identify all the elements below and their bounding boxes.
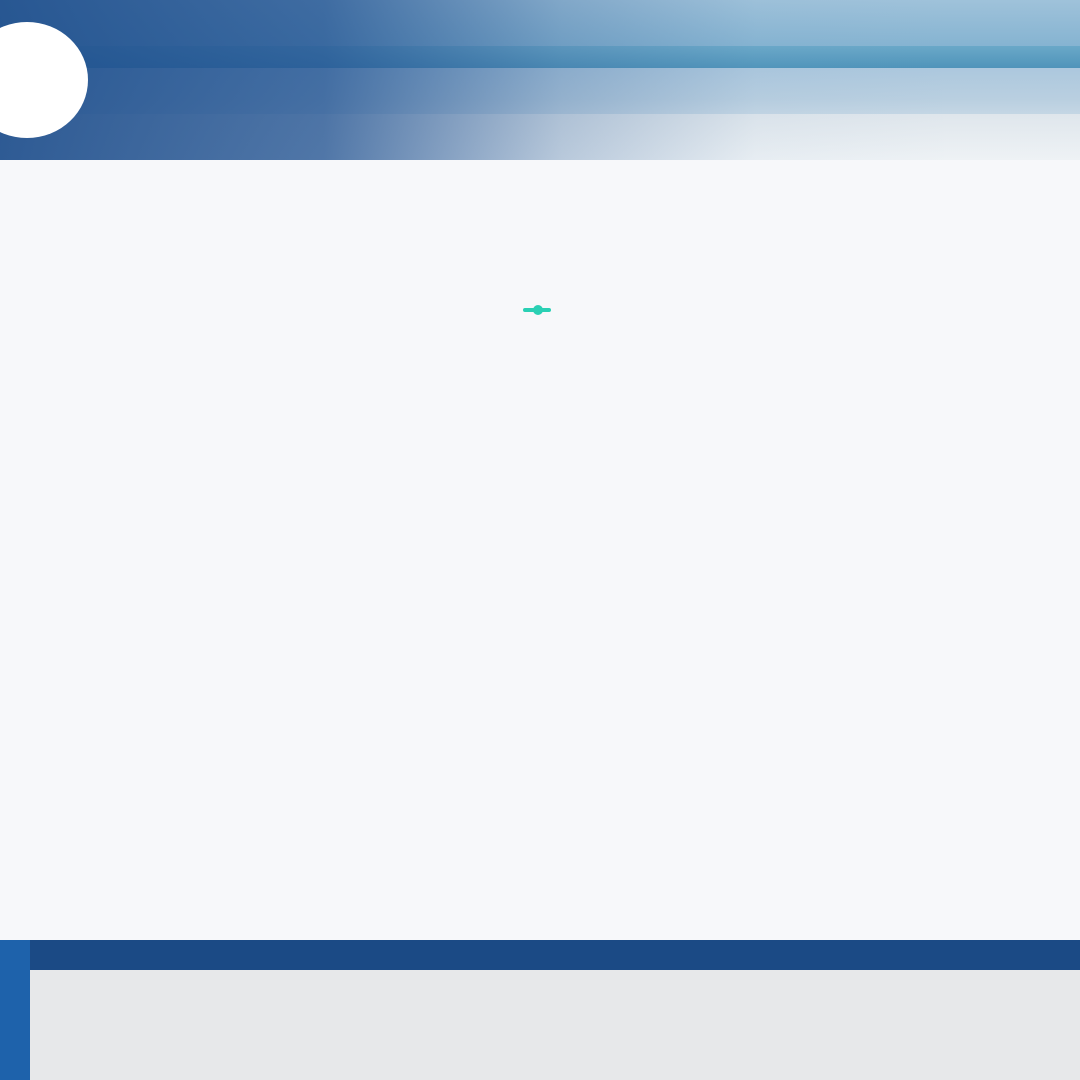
bmkg-logo-mark [10,48,72,110]
infographic-page [0,0,1080,1080]
banner-overlay-tint [0,0,1080,160]
chart-legend-marker-icon [523,308,551,312]
sst-chart-svg [20,198,1060,306]
legend-side-bar [0,940,30,1080]
legend-footer [0,940,1080,1080]
legend-note [30,940,1080,970]
sst-chart [20,198,1060,306]
header-banner [0,0,1080,160]
